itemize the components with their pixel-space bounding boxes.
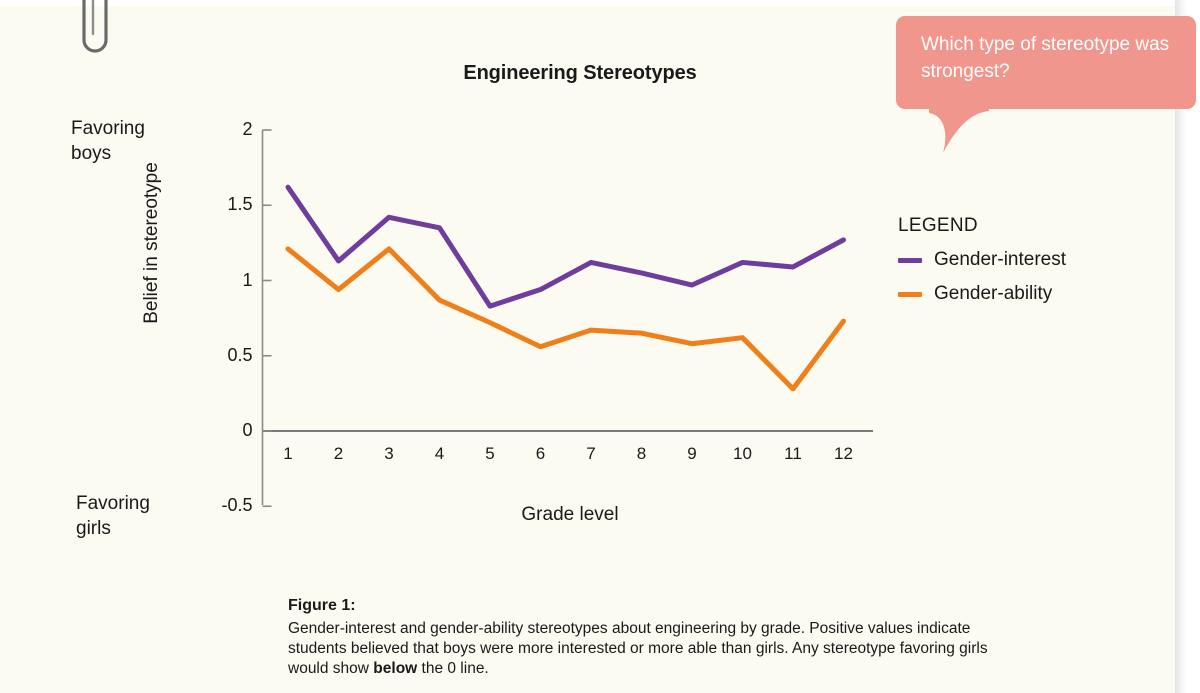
legend-item-gender-ability: Gender-ability <box>898 283 1066 305</box>
figure-caption-body: Gender-interest and gender-ability stere… <box>288 619 1018 679</box>
legend-color-swatch-icon <box>898 292 922 297</box>
series-line-gender-ability <box>288 249 844 389</box>
data-series-lines <box>288 187 844 389</box>
chart-legend: LEGEND Gender-interest Gender-ability <box>898 215 1066 317</box>
legend-title: LEGEND <box>898 215 1066 237</box>
callout-bubble-text: Which type of stereotype was strongest? <box>921 31 1177 85</box>
axis-lines <box>263 130 874 505</box>
legend-item-label: Gender-interest <box>934 249 1066 271</box>
series-line-gender-interest <box>288 187 844 306</box>
legend-item-label: Gender-ability <box>934 283 1052 305</box>
callout-bubble: Which type of stereotype was strongest? <box>896 16 1196 109</box>
caption-line-3-post: the 0 line. <box>417 660 489 677</box>
caption-line-3-bold: below <box>373 660 417 677</box>
figure-caption-label: Figure 1: <box>288 597 1018 615</box>
legend-item-gender-interest: Gender-interest <box>898 249 1066 271</box>
caption-line-1: Gender-interest and gender-ability stere… <box>288 620 864 637</box>
plot-canvas <box>0 0 900 560</box>
legend-color-swatch-icon <box>898 258 922 263</box>
figure-caption: Figure 1: Gender-interest and gender-abi… <box>288 597 1018 679</box>
chart-figure: Engineering Stereotypes Favoring boys Fa… <box>0 0 900 560</box>
callout-bubble-tail-icon <box>929 105 989 155</box>
y-axis-ticks <box>263 130 272 506</box>
